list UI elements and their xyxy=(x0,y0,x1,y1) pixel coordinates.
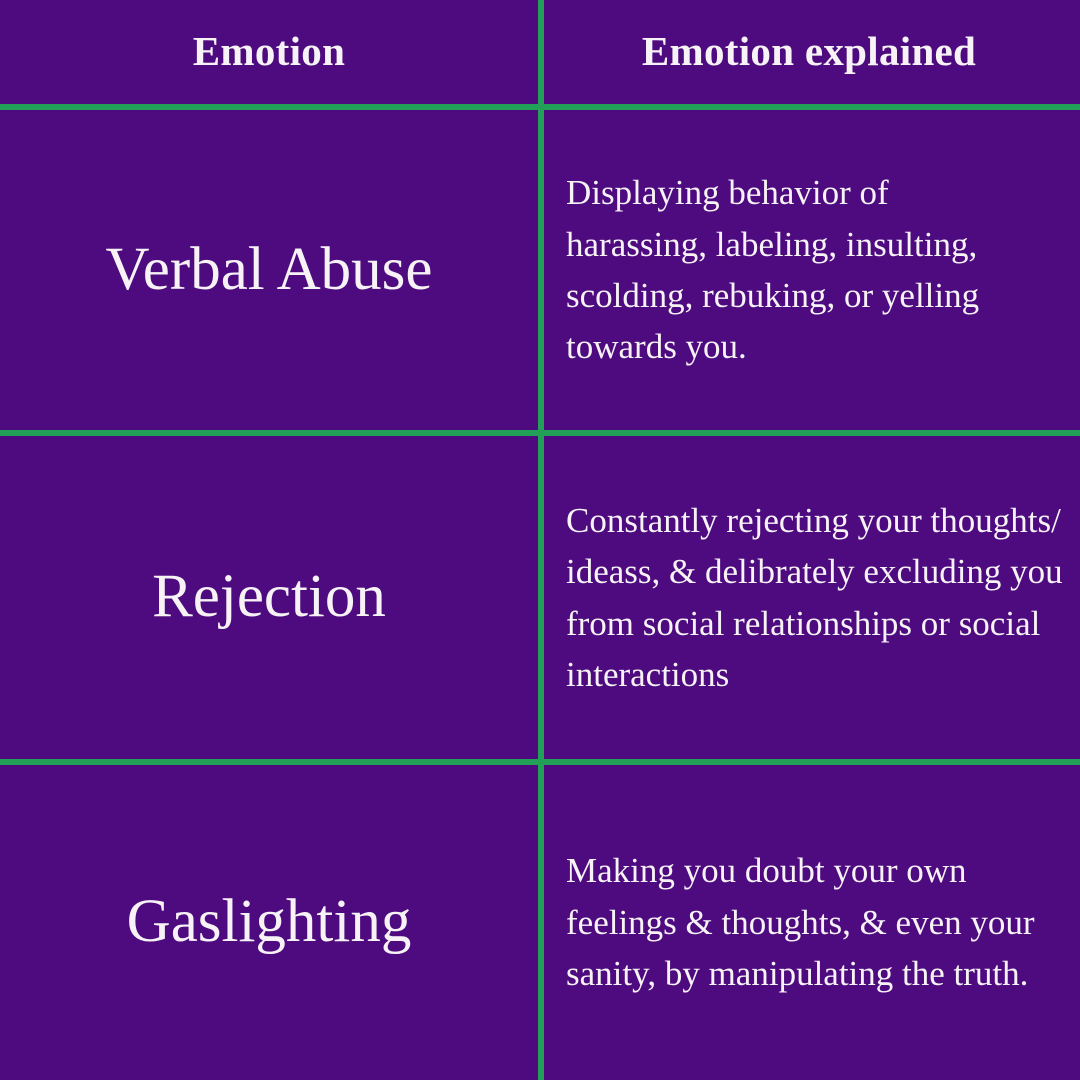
cell-emotion-name: Gaslighting xyxy=(0,765,538,1080)
emotion-label-rejection: Rejection xyxy=(152,563,386,631)
emotion-description-rejection: Constantly rejecting your thoughts/ idea… xyxy=(566,495,1066,701)
header-cell-emotion: Emotion xyxy=(0,0,538,104)
emotion-table: Emotion Emotion explained Verbal Abuse D… xyxy=(0,0,1080,1080)
header-label-emotion-explained: Emotion explained xyxy=(642,29,976,74)
emotion-description-verbal-abuse: Displaying behavior of harassing, labeli… xyxy=(566,167,996,373)
emotion-description-gaslighting: Making you doubt your own feelings & tho… xyxy=(566,845,1066,999)
column-divider xyxy=(538,0,544,1080)
cell-emotion-name: Rejection xyxy=(0,436,538,759)
header-label-emotion: Emotion xyxy=(193,29,345,74)
cell-emotion-explanation: Displaying behavior of harassing, labeli… xyxy=(538,110,1080,430)
emotion-label-gaslighting: Gaslighting xyxy=(127,888,412,956)
cell-emotion-explanation: Constantly rejecting your thoughts/ idea… xyxy=(538,436,1080,759)
emotion-label-verbal-abuse: Verbal Abuse xyxy=(106,236,433,304)
header-cell-emotion-explained: Emotion explained xyxy=(538,0,1080,104)
cell-emotion-name: Verbal Abuse xyxy=(0,110,538,430)
cell-emotion-explanation: Making you doubt your own feelings & tho… xyxy=(538,765,1080,1080)
